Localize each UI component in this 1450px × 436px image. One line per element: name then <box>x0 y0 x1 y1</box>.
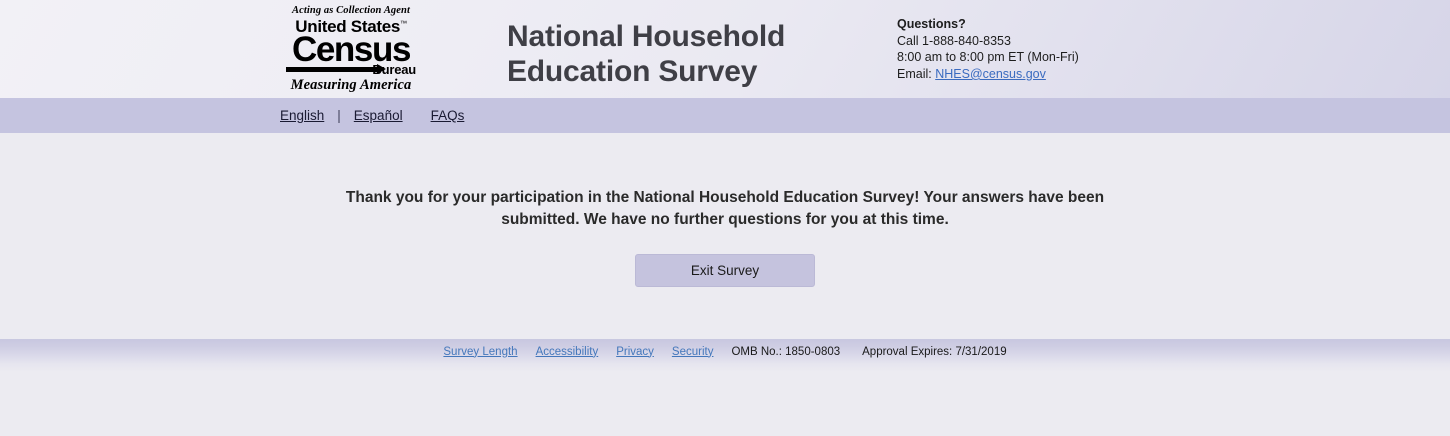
approval-expires: Approval Expires: 7/31/2019 <box>862 346 1006 358</box>
logo-us-words: United States <box>295 17 400 36</box>
nav-links: English | Español FAQs <box>280 98 464 133</box>
main-content: Thank you for your participation in the … <box>0 133 1450 339</box>
logo-trademark-symbol: ™ <box>400 20 407 27</box>
page-header: Acting as Collection Agent United States… <box>0 0 1450 98</box>
census-bureau-logo: Acting as Collection Agent United States… <box>286 6 416 92</box>
logo-census-wordmark: Census <box>286 35 416 65</box>
questions-phone: Call 1-888-840-8353 <box>897 33 1079 50</box>
questions-contact-block: Questions? Call 1-888-840-8353 8:00 am t… <box>897 16 1079 83</box>
language-nav-bar: English | Español FAQs <box>0 98 1450 133</box>
logo-bureau-text: Bureau <box>372 63 416 76</box>
logo-arrow-bar: Bureau <box>286 65 416 74</box>
footer-links-row: Survey Length Accessibility Privacy Secu… <box>0 339 1450 364</box>
nav-separator: | <box>337 108 341 123</box>
exit-survey-button[interactable]: Exit Survey <box>635 254 815 287</box>
nav-link-espanol[interactable]: Español <box>354 108 403 123</box>
questions-email-row: Email: NHES@census.gov <box>897 66 1079 83</box>
footer-link-security[interactable]: Security <box>672 346 714 358</box>
logo-acting-as-text: Acting as Collection Agent <box>286 6 416 17</box>
footer-link-privacy[interactable]: Privacy <box>616 346 654 358</box>
questions-email-link[interactable]: NHES@census.gov <box>935 67 1046 81</box>
survey-page: Acting as Collection Agent United States… <box>0 0 1450 436</box>
thank-you-message: Thank you for your participation in the … <box>345 187 1105 231</box>
page-title-line-2: Education Survey <box>507 54 785 89</box>
footer-link-accessibility[interactable]: Accessibility <box>536 346 599 358</box>
page-title: National Household Education Survey <box>507 19 785 89</box>
logo-bar-shape <box>286 67 378 72</box>
page-title-line-1: National Household <box>507 19 785 54</box>
logo-tagline: Measuring America <box>286 78 416 93</box>
header-inner: Acting as Collection Agent United States… <box>0 0 1450 98</box>
questions-heading: Questions? <box>897 16 1079 33</box>
questions-hours: 8:00 am to 8:00 pm ET (Mon-Fri) <box>897 49 1079 66</box>
nav-link-faqs[interactable]: FAQs <box>431 108 465 123</box>
page-footer: Survey Length Accessibility Privacy Secu… <box>0 339 1450 436</box>
exit-button-wrapper: Exit Survey <box>635 254 815 287</box>
nav-link-english[interactable]: English <box>280 108 324 123</box>
omb-number: OMB No.: 1850-0803 <box>731 346 840 358</box>
footer-link-survey-length[interactable]: Survey Length <box>443 346 517 358</box>
questions-email-label: Email: <box>897 67 932 81</box>
logo-united-states-text: United States™ <box>295 18 406 35</box>
